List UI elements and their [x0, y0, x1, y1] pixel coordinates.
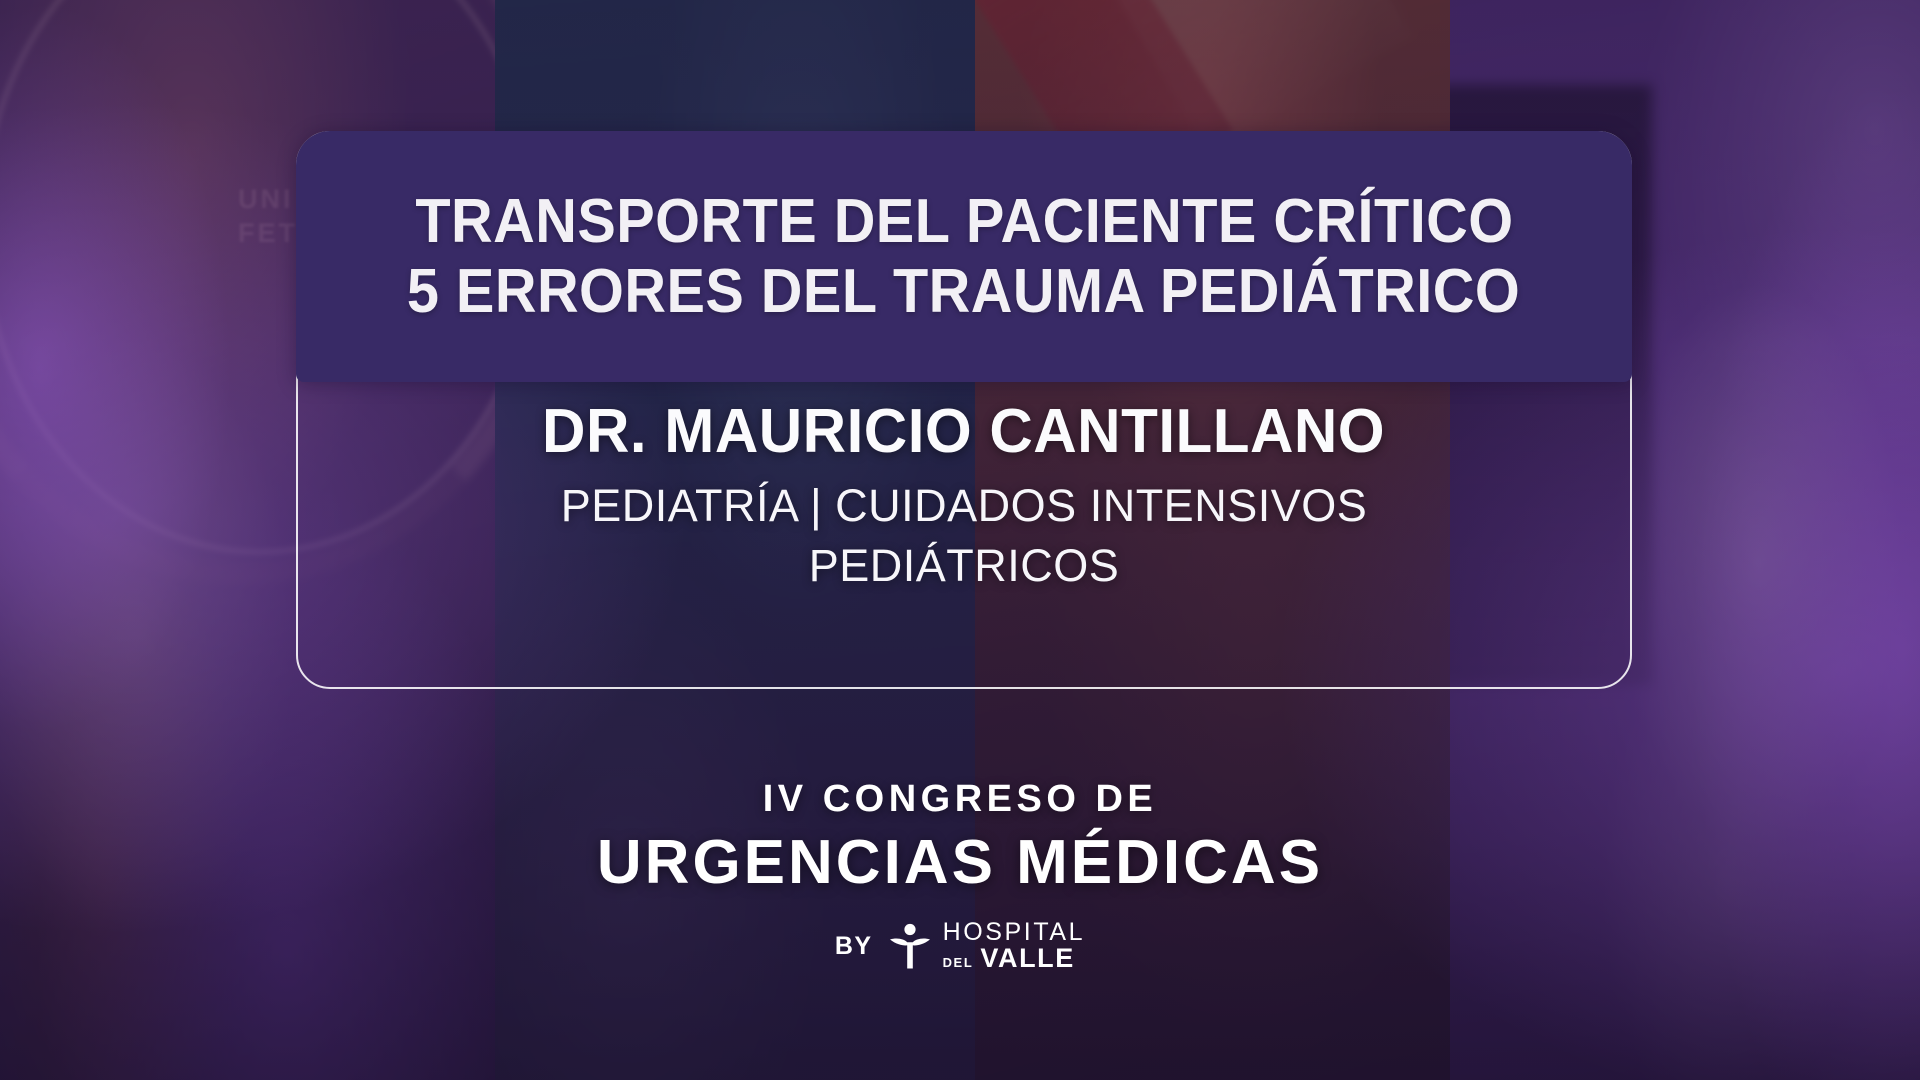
speaker-name: DR. MAURICIO CANTILLANO [542, 398, 1385, 466]
congress-pretitle: IV CONGRESO DE [763, 778, 1158, 821]
congress-title: URGENCIAS MÉDICAS [597, 827, 1323, 898]
brand-line-bottom: DEL VALLE [943, 945, 1086, 972]
hospital-figure-icon [890, 923, 930, 969]
title-block: TRANSPORTE DEL PACIENTE CRÍTICO 5 ERRORE… [296, 131, 1632, 382]
slide-canvas: UNI FET TRANSPORTE DEL PACIENTE CRÍTICO … [0, 0, 1920, 1080]
speaker-role: PEDIATRÍA | CUIDADOS INTENSIVOS PEDIÁTRI… [454, 476, 1474, 595]
brand-word-del: DEL [943, 956, 974, 969]
brand-line-hospital: HOSPITAL [943, 920, 1086, 945]
title-line-1: TRANSPORTE DEL PACIENTE CRÍTICO [415, 187, 1513, 256]
title-line-2: 5 ERRORES DEL TRAUMA PEDIÁTRICO [407, 257, 1520, 326]
by-label: BY [835, 932, 873, 961]
hospital-del-valle-logo: HOSPITAL DEL VALLE [890, 920, 1086, 972]
speaker-block: DR. MAURICIO CANTILLANO PEDIATRÍA | CUID… [296, 398, 1632, 595]
sponsor-row: BY HOSPITAL DEL VALLE [835, 920, 1085, 972]
brand-word-valle: VALLE [980, 945, 1075, 972]
hospital-wordmark: HOSPITAL DEL VALLE [943, 920, 1086, 972]
congress-footer: IV CONGRESO DE URGENCIAS MÉDICAS BY HOSP… [0, 778, 1920, 972]
